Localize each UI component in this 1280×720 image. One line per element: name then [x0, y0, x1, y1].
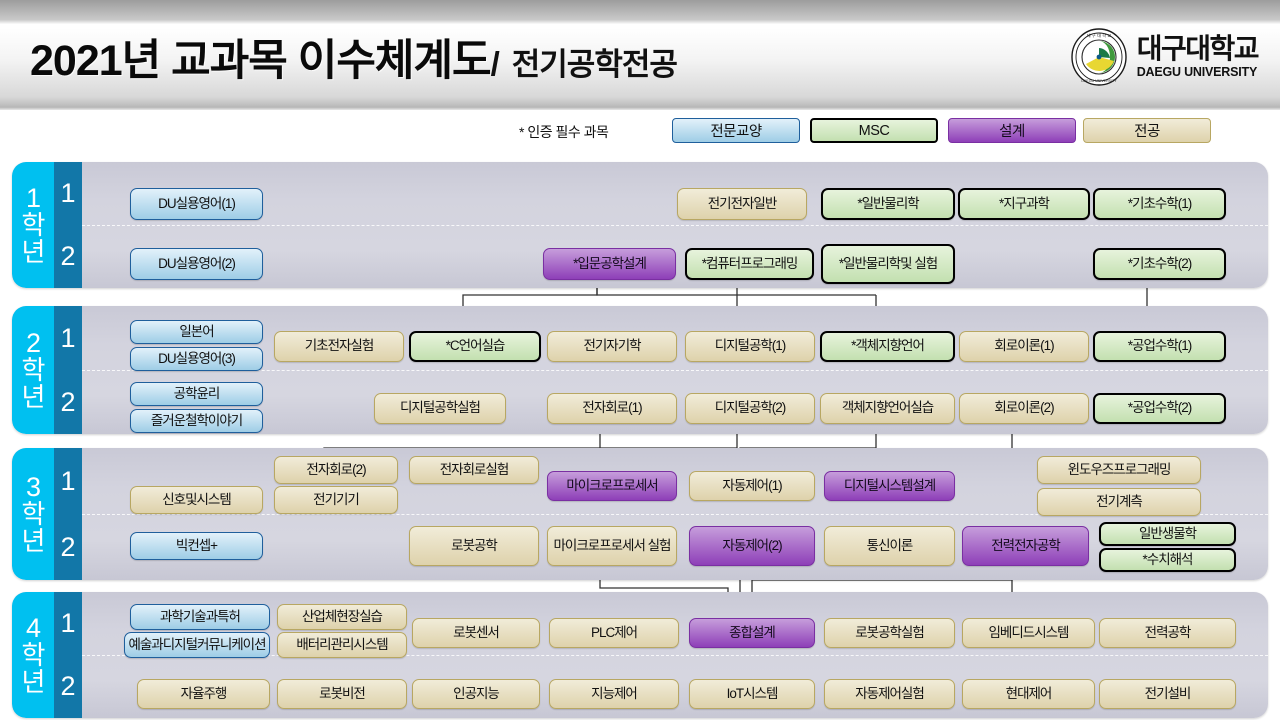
course-label: *기초수학(2) — [1128, 257, 1191, 272]
course-label: 전자회로(1) — [582, 401, 641, 416]
course-label: 마이크로프로세서 — [566, 479, 657, 494]
semester-divider — [82, 370, 1268, 371]
year-char: 학 — [22, 212, 45, 239]
course-label: *C언어실습 — [446, 339, 505, 354]
course-label: *컴퓨터프로그래밍 — [702, 257, 798, 272]
semester-number-text: 1 — [60, 608, 75, 639]
page-header: 2021년 교과목 이수체계도 / 전기공학전공 대 구 대 학 교 DAEGU… — [0, 0, 1280, 110]
course-box[interactable]: 배터리관리시스템 — [277, 632, 407, 658]
course-label: 디지털시스템설계 — [844, 479, 935, 494]
semester-number-1: 1 — [54, 306, 82, 370]
course-box[interactable]: *기초수학(1) — [1093, 188, 1226, 220]
course-box[interactable]: 디지털시스템설계 — [824, 471, 955, 501]
semester-divider — [82, 225, 1268, 226]
curriculum-diagram: 1학년12DU실용영어(1)전기전자일반*일반물리학*지구과학*기초수학(1)D… — [0, 148, 1280, 720]
daegu-university-seal-icon: 대 구 대 학 교 DAEGU UNIVERSITY — [1070, 28, 1128, 86]
course-label: *객체지향언어 — [851, 339, 924, 354]
course-label: 로봇센서 — [453, 626, 499, 641]
course-box[interactable]: 전자회로(2) — [274, 456, 398, 484]
course-box[interactable]: 전자회로(1) — [547, 393, 677, 424]
course-box[interactable]: 일본어 — [130, 320, 263, 344]
course-box[interactable]: 회로이론(1) — [959, 331, 1089, 362]
course-label: 일반생물학 — [1139, 527, 1196, 542]
course-label: 자동제어(1) — [722, 479, 781, 494]
year-band-3: 3학년12전자회로(2)전자회로실험윈도우즈프로그래밍신호및시스템전기기기마이크… — [12, 448, 1268, 580]
course-label: *입문공학설계 — [573, 257, 646, 272]
semester-number-1: 1 — [54, 162, 82, 225]
year-char: 년 — [22, 239, 45, 266]
course-label: 로봇비전 — [319, 687, 365, 702]
course-box[interactable]: 과학기술과특허 — [130, 604, 270, 630]
year-char: 년 — [22, 669, 45, 696]
semester-number-2: 2 — [54, 655, 82, 718]
course-label: 회로이론(2) — [994, 401, 1053, 416]
university-logo: 대 구 대 학 교 DAEGU UNIVERSITY 대구대학교 DAEGU U… — [1070, 28, 1258, 86]
course-box[interactable]: *일반물리학 — [821, 188, 955, 220]
course-box[interactable]: PLC제어 — [549, 618, 679, 648]
year-char: 학 — [22, 357, 45, 384]
course-box[interactable]: 디지털공학(2) — [685, 393, 815, 424]
course-box[interactable]: 전자회로실험 — [409, 456, 539, 484]
year-band-4: 4학년12과학기술과특허예술과디지털커뮤니케이션산업체현장실습배터리관리시스템로… — [12, 592, 1268, 718]
title-separator: / — [491, 45, 500, 83]
course-label: 로봇공학실험 — [855, 626, 924, 641]
course-label: 종합설계 — [729, 626, 775, 641]
course-box[interactable]: 예술과디지털커뮤니케이션 — [124, 632, 270, 658]
course-box[interactable]: *수치해석 — [1099, 548, 1236, 572]
course-label: 전자회로(2) — [306, 463, 365, 478]
course-label: 자동제어(2) — [722, 539, 781, 554]
semester-number-text: 2 — [60, 532, 75, 563]
course-label: DU실용영어(2) — [158, 257, 235, 272]
course-box[interactable]: 전력공학 — [1099, 618, 1236, 648]
semester-number-text: 2 — [60, 387, 75, 418]
course-box[interactable]: DU실용영어(1) — [130, 188, 263, 220]
course-box[interactable]: 윈도우즈프로그래밍 — [1037, 456, 1201, 484]
semester-number-text: 1 — [60, 178, 75, 209]
course-label: *공업수학(1) — [1128, 339, 1191, 354]
course-label: 윈도우즈프로그래밍 — [1068, 463, 1171, 478]
course-box[interactable]: 임베디드시스템 — [962, 618, 1095, 648]
course-box[interactable]: 종합설계 — [689, 618, 815, 648]
course-box[interactable]: 디지털공학실험 — [374, 393, 506, 424]
course-label: 통신이론 — [867, 539, 913, 554]
course-box[interactable]: 통신이론 — [824, 526, 955, 566]
semester-number-1: 1 — [54, 592, 82, 655]
course-box[interactable]: 로봇비전 — [277, 679, 407, 709]
legend-required-note: * 인증 필수 과목 — [519, 122, 608, 142]
course-label: DU실용영어(1) — [158, 197, 235, 212]
legend-item-major: 전공 — [1083, 118, 1211, 143]
course-box[interactable]: *객체지향언어 — [820, 331, 955, 362]
course-label: 객체지향언어실습 — [842, 401, 933, 416]
course-label: PLC제어 — [591, 626, 637, 641]
course-label: 지능제어 — [591, 687, 637, 702]
legend-item-design: 설계 — [948, 118, 1076, 143]
year-char: 년 — [22, 528, 45, 555]
course-box[interactable]: *컴퓨터프로그래밍 — [685, 248, 814, 280]
course-box[interactable]: 인공지능 — [412, 679, 540, 709]
semester-number-text: 2 — [60, 241, 75, 272]
course-label: *일반물리학 — [857, 197, 918, 212]
course-box[interactable]: 기초전자실험 — [274, 331, 404, 362]
page-title: 2021년 교과목 이수체계도 / 전기공학전공 — [30, 26, 677, 88]
year-label-1: 1학년 — [12, 162, 54, 288]
course-label: 전기설비 — [1145, 687, 1191, 702]
course-label: IoT시스템 — [727, 687, 778, 702]
course-label: *일반물리학및 실험 — [839, 257, 937, 272]
legend-item-label: 전문교양 — [710, 120, 761, 141]
course-box[interactable]: *지구과학 — [958, 188, 1090, 220]
course-box[interactable]: 전기계측 — [1037, 488, 1201, 516]
course-label: DU실용영어(3) — [158, 352, 235, 367]
course-box[interactable]: 전기설비 — [1099, 679, 1236, 709]
logo-korean-name: 대구대학교 — [1137, 35, 1258, 63]
course-box[interactable]: 로봇센서 — [412, 618, 540, 648]
course-box[interactable]: 전기자기학 — [547, 331, 677, 362]
year-number: 4 — [26, 615, 40, 643]
legend-item-msc: MSC — [810, 118, 938, 143]
year-band-2: 2학년12일본어DU실용영어(3)기초전자실험*C언어실습전기자기학디지털공학(… — [12, 306, 1268, 434]
course-label: 전력전자공학 — [991, 539, 1060, 554]
course-label: 디지털공학(2) — [715, 401, 786, 416]
course-box[interactable]: DU실용영어(3) — [130, 347, 263, 371]
title-main-text: 2021년 교과목 이수체계도 — [30, 26, 491, 88]
course-box[interactable]: 마이크로프로세서 실험 — [547, 526, 677, 566]
course-box[interactable]: *기초수학(2) — [1093, 248, 1226, 280]
course-label: 자율주행 — [181, 687, 227, 702]
title-major-text: 전기공학전공 — [512, 39, 677, 84]
course-label: 과학기술과특허 — [160, 610, 240, 625]
course-box[interactable]: 로봇공학 — [409, 526, 539, 566]
course-box[interactable]: 회로이론(2) — [959, 393, 1089, 424]
course-box[interactable]: 현대제어 — [962, 679, 1095, 709]
course-label: *기초수학(1) — [1128, 197, 1191, 212]
course-label: 일본어 — [179, 325, 213, 340]
course-box[interactable]: *일반물리학및 실험 — [821, 244, 955, 284]
course-box[interactable]: 즐거운철학이야기 — [130, 409, 263, 433]
legend: * 인증 필수 과목 전문교양MSC설계전공 — [0, 118, 1280, 148]
year-char: 학 — [22, 642, 45, 669]
course-label: 로봇공학 — [451, 539, 497, 554]
course-label: 산업체현장실습 — [302, 610, 382, 625]
course-label: 전기전자일반 — [708, 197, 777, 212]
course-box[interactable]: 전기기기 — [274, 486, 398, 514]
legend-item-label: 설계 — [999, 120, 1025, 141]
semester-number-text: 2 — [60, 671, 75, 702]
course-box[interactable]: 디지털공학(1) — [685, 331, 815, 362]
semester-number-2: 2 — [54, 370, 82, 434]
semester-number-2: 2 — [54, 225, 82, 288]
course-label: 전기자기학 — [583, 339, 640, 354]
course-box[interactable]: IoT시스템 — [689, 679, 815, 709]
course-label: 신호및시스템 — [162, 493, 231, 508]
semester-number-1: 1 — [54, 448, 82, 514]
semester-number-text: 1 — [60, 323, 75, 354]
course-box[interactable]: 자율주행 — [137, 679, 270, 709]
course-box[interactable]: 일반생물학 — [1099, 522, 1236, 546]
logo-english-name: DAEGU UNIVERSITY — [1137, 66, 1258, 79]
course-box[interactable]: 빅컨셉+ — [130, 532, 263, 560]
logo-wordmark: 대구대학교 DAEGU UNIVERSITY — [1137, 35, 1258, 79]
year-label-2: 2학년 — [12, 306, 54, 434]
course-label: 배터리관리시스템 — [296, 638, 387, 653]
course-label: *공업수학(2) — [1128, 401, 1191, 416]
svg-text:DAEGU UNIVERSITY: DAEGU UNIVERSITY — [1081, 79, 1117, 83]
year-number: 2 — [26, 330, 40, 358]
course-box[interactable]: 객체지향언어실습 — [820, 393, 955, 424]
svg-text:대 구 대 학 교: 대 구 대 학 교 — [1086, 32, 1111, 39]
legend-item-label: MSC — [859, 123, 890, 139]
course-box[interactable]: *C언어실습 — [409, 331, 541, 362]
course-label: 즐거운철학이야기 — [151, 414, 242, 429]
course-label: *수치해석 — [1143, 553, 1193, 568]
course-label: *지구과학 — [999, 197, 1049, 212]
course-box[interactable]: *공업수학(1) — [1093, 331, 1226, 362]
course-box[interactable]: *공업수학(2) — [1093, 393, 1226, 424]
year-number: 1 — [26, 185, 40, 213]
course-box[interactable]: 신호및시스템 — [130, 486, 263, 514]
semester-number-2: 2 — [54, 514, 82, 580]
course-label: 현대제어 — [1006, 687, 1052, 702]
course-label: 전기계측 — [1096, 495, 1142, 510]
semester-number-text: 1 — [60, 466, 75, 497]
course-label: 인공지능 — [453, 687, 499, 702]
course-label: 빅컨셉+ — [176, 539, 217, 554]
course-box[interactable]: 지능제어 — [549, 679, 679, 709]
course-label: 기초전자실험 — [305, 339, 374, 354]
course-label: 예술과디지털커뮤니케이션 — [128, 638, 265, 653]
course-label: 공학윤리 — [174, 387, 220, 402]
course-box[interactable]: 산업체현장실습 — [277, 604, 407, 630]
course-label: 마이크로프로세서 실험 — [554, 539, 671, 554]
legend-item-label: 전공 — [1134, 120, 1160, 141]
year-number: 3 — [26, 474, 40, 502]
course-label: 전기기기 — [313, 493, 359, 508]
course-label: 임베디드시스템 — [989, 626, 1069, 641]
course-box[interactable]: 전력전자공학 — [962, 526, 1089, 566]
year-char: 학 — [22, 501, 45, 528]
course-label: 전력공학 — [1145, 626, 1191, 641]
course-box[interactable]: DU실용영어(2) — [130, 248, 263, 280]
legend-item-liberal: 전문교양 — [672, 118, 800, 143]
year-label-3: 3학년 — [12, 448, 54, 580]
course-box[interactable]: 자동제어(1) — [689, 471, 815, 501]
course-label: 전자회로실험 — [440, 463, 509, 478]
year-label-4: 4학년 — [12, 592, 54, 718]
course-box[interactable]: 전기전자일반 — [677, 188, 807, 220]
course-box[interactable]: 자동제어(2) — [689, 526, 815, 566]
course-box[interactable]: 로봇공학실험 — [824, 618, 955, 648]
course-label: 회로이론(1) — [994, 339, 1053, 354]
course-box[interactable]: 공학윤리 — [130, 382, 263, 406]
course-box[interactable]: 자동제어실험 — [824, 679, 955, 709]
course-label: 디지털공학실험 — [400, 401, 480, 416]
course-label: 자동제어실험 — [855, 687, 924, 702]
course-label: 디지털공학(1) — [715, 339, 786, 354]
year-band-1: 1학년12DU실용영어(1)전기전자일반*일반물리학*지구과학*기초수학(1)D… — [12, 162, 1268, 288]
course-box[interactable]: *입문공학설계 — [543, 248, 676, 280]
course-box[interactable]: 마이크로프로세서 — [547, 471, 677, 501]
year-char: 년 — [22, 384, 45, 411]
